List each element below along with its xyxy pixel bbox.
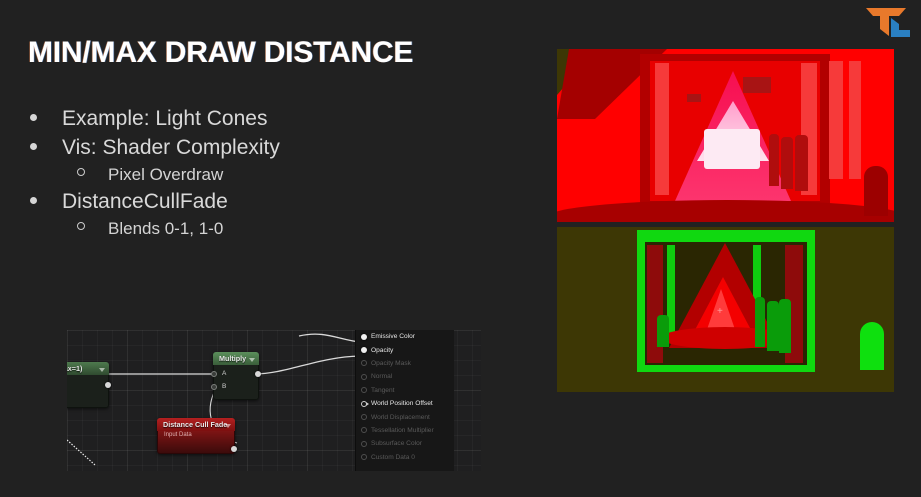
pin-dot-icon	[361, 360, 367, 366]
node-output-pin[interactable]	[231, 446, 237, 452]
pin-label: Opacity Mask	[371, 360, 411, 367]
list-item-label: Pixel Overdraw	[108, 166, 223, 184]
list-item-label: Blends 0-1, 1-0	[108, 220, 223, 238]
slide-canvas: MIN/MAX DRAW DISTANCE Example: Light Con…	[0, 0, 921, 497]
pillar	[655, 63, 669, 195]
pin-dot-icon	[361, 347, 367, 353]
bullet-list: Example: Light Cones Vis: Shader Complex…	[30, 108, 500, 245]
chevron-down-icon[interactable]	[249, 358, 255, 362]
pillar	[849, 61, 861, 179]
node-subtitle: Input Data	[158, 431, 234, 440]
material-pin-subsurface-color[interactable]: Subsurface Color	[356, 437, 454, 450]
pin-dot-icon	[361, 454, 367, 460]
node-title: Distance Cull Fade	[157, 418, 235, 431]
node-input-pin-b[interactable]	[211, 384, 217, 390]
node-distance-cull-fade[interactable]: Distance Cull Fade Input Data	[157, 418, 235, 454]
pin-dot-icon	[361, 427, 367, 433]
crosshair-icon: +	[717, 308, 725, 316]
crowd-figure	[767, 301, 779, 351]
node-output-pin[interactable]	[105, 382, 111, 388]
pillar	[829, 61, 843, 179]
list-item: Example: Light Cones	[30, 108, 500, 130]
pin-label: Opacity	[371, 347, 393, 354]
material-pin-normal[interactable]: Normal	[356, 370, 454, 383]
floor-arc	[557, 200, 894, 222]
pin-label: World Displacement	[371, 414, 430, 421]
node-body: A B	[213, 365, 259, 400]
list-item-label: DistanceCullFade	[62, 191, 228, 213]
node-body	[67, 375, 109, 408]
pin-dot-icon	[361, 441, 367, 447]
material-pin-custom-data-0[interactable]: Custom Data 0	[356, 451, 454, 464]
pin-label: Custom Data 0	[371, 454, 415, 461]
list-item: Pixel Overdraw	[30, 166, 500, 184]
doorway	[860, 322, 884, 370]
bullet-circle-icon	[77, 168, 85, 176]
bullet-dot-icon	[30, 197, 37, 204]
bullet-dot-icon	[30, 143, 37, 150]
doorway	[864, 166, 888, 216]
chevron-down-icon[interactable]	[225, 424, 231, 428]
bullet-circle-icon	[77, 222, 85, 230]
material-editor-graph[interactable]: ) (Max=1) Multiply A B Distance Cull Fad…	[67, 330, 481, 471]
pin-label: Emissive Color	[371, 333, 415, 340]
node-input-label-b: B	[222, 383, 226, 390]
pin-dot-icon	[361, 374, 367, 380]
material-pin-tangent[interactable]: Tangent	[356, 384, 454, 397]
pin-dot-icon	[361, 414, 367, 420]
pin-label: Subsurface Color	[371, 440, 422, 447]
pin-dot-icon	[361, 387, 367, 393]
node-clamp[interactable]: ) (Max=1)	[67, 362, 109, 408]
ceiling-sign	[687, 94, 701, 102]
page-title: MIN/MAX DRAW DISTANCE	[28, 36, 413, 70]
material-pin-world-displacement[interactable]: World Displacement	[356, 410, 454, 423]
pin-label: World Position Offset	[371, 400, 433, 407]
node-input-label-a: A	[222, 370, 226, 377]
crowd-figure	[795, 135, 808, 191]
bullet-dot-icon	[30, 114, 37, 121]
list-item-label: Example: Light Cones	[62, 108, 267, 130]
list-item-label: Vis: Shader Complexity	[62, 137, 280, 159]
node-input-pin-a[interactable]	[211, 371, 217, 377]
material-pin-emissive-color[interactable]: Emissive Color	[356, 330, 454, 343]
tl-logo-icon	[858, 4, 914, 40]
crowd-figure	[779, 299, 791, 353]
pin-dot-icon	[361, 334, 367, 340]
crowd-figure	[769, 134, 779, 186]
list-item: DistanceCullFade	[30, 191, 500, 213]
material-pin-opacity-mask[interactable]: Opacity Mask	[356, 357, 454, 370]
light-cone-hotspot	[704, 129, 760, 169]
pin-label: Tessellation Multiplier	[371, 427, 434, 434]
list-item: Blends 0-1, 1-0	[30, 220, 500, 238]
shader-complexity-red-view	[557, 49, 894, 222]
node-multiply[interactable]: Multiply A B	[213, 352, 259, 400]
crowd-figure	[781, 137, 793, 189]
crowd-figure	[657, 315, 669, 347]
ceiling-sign	[743, 77, 771, 93]
pin-arrow-icon	[361, 401, 367, 407]
pin-label: Normal	[371, 373, 392, 380]
material-output-node[interactable]: Emissive Color Opacity Opacity Mask Norm…	[355, 330, 454, 471]
material-pin-world-position-offset[interactable]: World Position Offset	[356, 397, 454, 410]
node-body: Input Data	[157, 431, 235, 454]
pin-label: Tangent	[371, 387, 394, 394]
chevron-down-icon[interactable]	[99, 368, 105, 372]
list-item: Vis: Shader Complexity	[30, 137, 500, 159]
node-output-pin[interactable]	[255, 371, 261, 377]
material-pin-opacity[interactable]: Opacity	[356, 343, 454, 356]
crowd-figure	[755, 297, 765, 347]
shader-complexity-green-view: +	[557, 227, 894, 392]
material-pin-tessellation-multiplier[interactable]: Tessellation Multiplier	[356, 424, 454, 437]
